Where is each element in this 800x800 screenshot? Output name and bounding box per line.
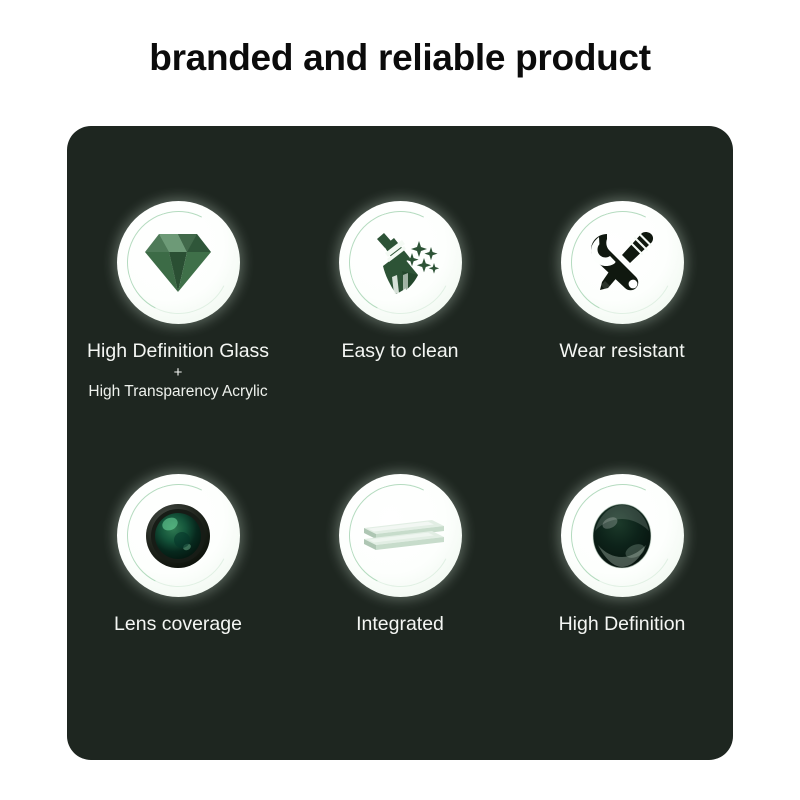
feature-label-high-definition: High Definition [559,612,686,636]
label-main: Wear resistant [559,340,684,362]
feature-item-lens-coverage[interactable]: Lens coverage [67,474,289,636]
feature-item-integrated[interactable]: Integrated [289,474,511,636]
diamond-icon [141,230,215,296]
badge-high-definition-glass [117,201,240,324]
badge-integrated [339,474,462,597]
feature-label-easy-to-clean: Easy to clean [341,339,458,363]
feature-item-high-definition-glass[interactable]: High Definition Glass + High Transparenc… [67,201,289,401]
feature-row-top: High Definition Glass + High Transparenc… [67,201,733,401]
feature-label-lens-coverage: Lens coverage [114,612,242,636]
badge-wear-resistant [561,201,684,324]
feature-label-high-definition-glass: High Definition Glass + High Transparenc… [87,339,269,401]
feature-item-easy-to-clean[interactable]: Easy to clean [289,201,511,401]
label-main: Easy to clean [341,340,458,362]
badge-high-definition [561,474,684,597]
page-title: branded and reliable product [0,36,800,80]
feature-row-bottom: Lens coverage [67,474,733,636]
badge-lens-coverage [117,474,240,597]
feature-item-high-definition[interactable]: High Definition [511,474,733,636]
glossy-droplet-icon [589,501,655,571]
label-main: High Definition [559,613,686,635]
camera-lens-icon [142,500,214,572]
label-main: Lens coverage [114,613,242,635]
wrench-screwdriver-icon [586,228,658,298]
broom-sparkle-icon [361,227,439,299]
feature-label-wear-resistant: Wear resistant [559,339,684,363]
feature-label-integrated: Integrated [356,612,444,636]
label-sub: High Transparency Acrylic [87,382,269,401]
label-main: High Definition Glass [87,340,269,362]
stacked-glass-sheets-icon [354,506,446,566]
badge-easy-to-clean [339,201,462,324]
feature-card: High Definition Glass + High Transparenc… [67,126,733,760]
label-main: Integrated [356,613,444,635]
feature-item-wear-resistant[interactable]: Wear resistant [511,201,733,401]
label-plus: + [87,364,269,381]
